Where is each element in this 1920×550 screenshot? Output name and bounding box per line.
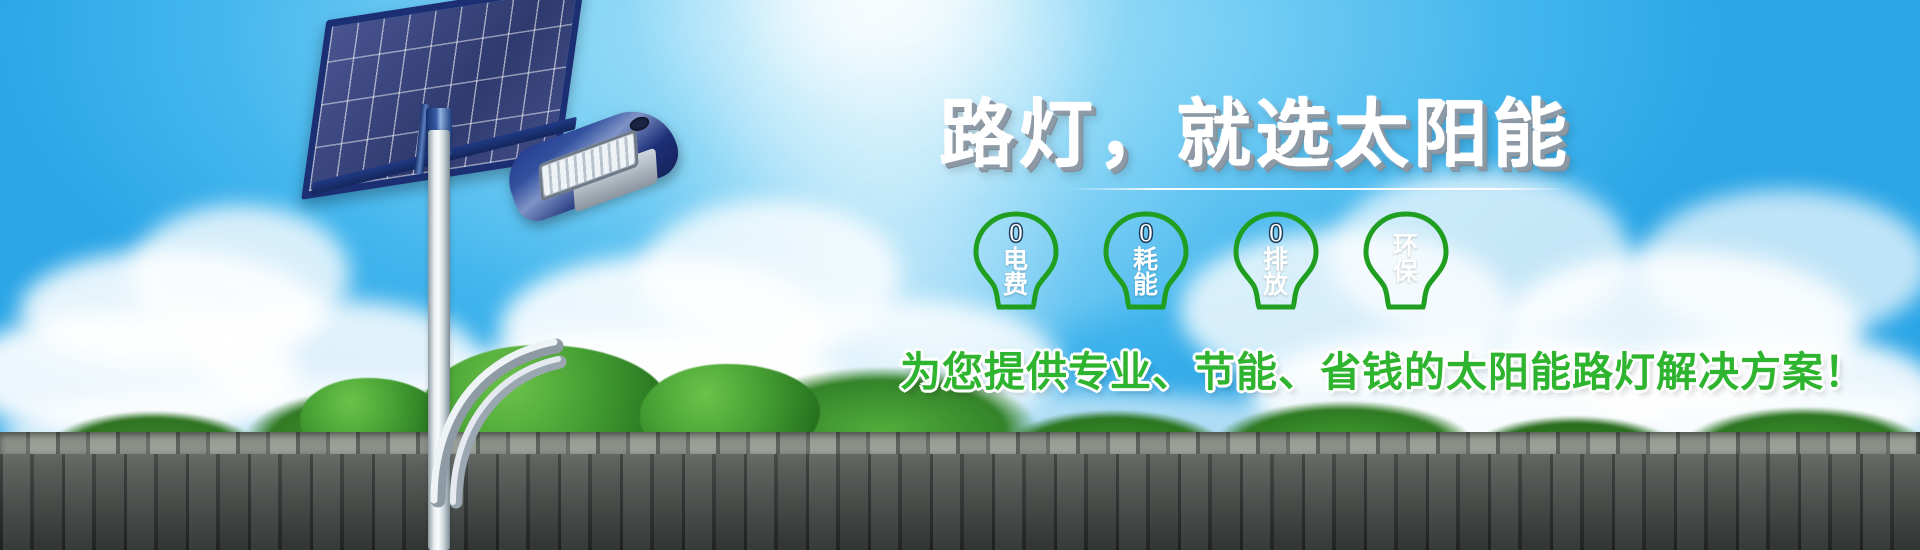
feature-badge-list: 0 电 费 0 耗 能 0 <box>970 208 1620 312</box>
badge-label-char-2: 费 <box>1003 273 1029 299</box>
solar-street-lamp <box>300 0 760 550</box>
tagline: 为您提供专业、节能、省钱的太阳能路灯解决方案！ <box>900 338 1620 398</box>
badge-value: 0 <box>1268 220 1283 248</box>
badge-label-char-2: 能 <box>1133 273 1159 299</box>
headline-divider <box>1066 188 1566 190</box>
badge-label-char-2: 保 <box>1393 260 1419 286</box>
badge-emission: 0 排 放 <box>1230 208 1322 312</box>
roof-ridge-cap <box>0 432 1920 454</box>
badge-eco: 环 保 <box>1360 208 1452 312</box>
badge-value: 0 <box>1138 220 1153 248</box>
badge-label-char-2: 放 <box>1263 273 1289 299</box>
badge-label-char-1: 排 <box>1263 248 1289 274</box>
marketing-copy: 路灯，就选太阳能 0 电 费 0 耗 能 <box>900 96 1620 398</box>
badge-energy-use: 0 耗 能 <box>1100 208 1192 312</box>
badge-label-char-1: 电 <box>1003 248 1029 274</box>
badge-label-char-1: 耗 <box>1133 248 1159 274</box>
badge-electric-fee: 0 电 费 <box>970 208 1062 312</box>
solar-street-lamp-banner: 路灯，就选太阳能 0 电 费 0 耗 能 <box>0 0 1920 550</box>
badge-label-char-1: 环 <box>1393 234 1419 260</box>
tiled-roof-wall <box>0 432 1920 550</box>
badge-value: 0 <box>1008 220 1023 248</box>
headline: 路灯，就选太阳能 <box>940 96 1620 174</box>
